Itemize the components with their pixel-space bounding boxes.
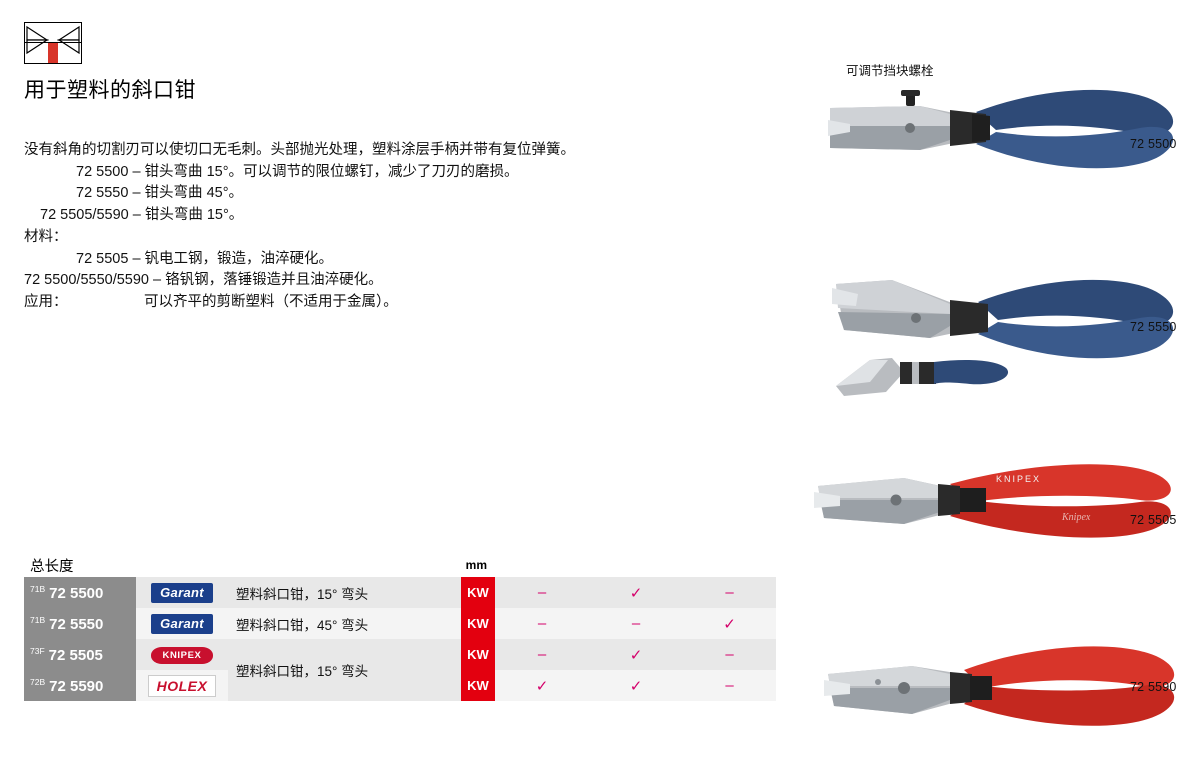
- row-value-3-1: ✓: [589, 670, 683, 701]
- description-line-3: 72 5550 – 钳头弯曲 45°。: [76, 183, 243, 204]
- table-header-title: 总长度: [24, 553, 461, 577]
- row-value-0-0: –: [495, 577, 589, 608]
- page-title: 用于塑料的斜口钳: [24, 74, 196, 104]
- row-code-3: 72B72 5590: [24, 670, 136, 701]
- row-brand-0: Garant: [136, 577, 228, 608]
- row-value-2-2: –: [683, 639, 776, 670]
- row-desc-0: 塑料斜口钳，15° 弯头: [228, 577, 461, 608]
- row-sup-3: 72B: [30, 677, 45, 687]
- row-article-1: 72 5550: [49, 616, 103, 633]
- product-photo-725500: [800, 78, 1199, 193]
- product-code-725590: 72 5590: [1130, 680, 1177, 694]
- description-line-1: 没有斜角的切割刃可以使切口无毛刺。头部抛光处理，塑料涂层手柄并带有复位弹簧。: [24, 140, 575, 161]
- application-text: 可以齐平的剪断塑料（不适用于金属）。: [144, 292, 398, 313]
- table-header-row: 总长度 mm 130 160 150: [24, 553, 776, 577]
- material-line-2: 72 5500/5550/5590 – 铬钒钢，落锤锻造并且油淬硬化。: [24, 270, 383, 291]
- product-code-725550: 72 5550: [1130, 320, 1177, 334]
- left-content-column: 用于塑料的斜口钳 没有斜角的切割刃可以使切口无毛刺。头部抛光处理，塑料涂层手柄并…: [0, 0, 800, 783]
- table-header-size-2: 150: [683, 553, 776, 577]
- row-kw-1: KW: [461, 608, 495, 639]
- product-photo-725550: [800, 262, 1199, 417]
- svg-text:KNIPEX: KNIPEX: [996, 474, 1041, 484]
- description-line-4: 72 5505/5590 – 钳头弯曲 15°。: [40, 205, 243, 226]
- adjustable-stop-screw-callout: 可调节挡块螺栓: [846, 60, 934, 79]
- table-header-size-1: 160: [589, 553, 683, 577]
- row-value-1-2: ✓: [683, 608, 776, 639]
- material-line-1: 72 5505 – 钒电工钢，锻造，油淬硬化。: [76, 249, 333, 270]
- product-images-column: 可调节挡块螺栓 72 5500: [800, 0, 1199, 783]
- table-header-unit: mm: [461, 553, 495, 577]
- garant-logo: Garant: [151, 583, 213, 603]
- application-label: 应用：: [24, 292, 68, 313]
- row-sup-1: 71B: [30, 615, 45, 625]
- row-value-1-0: –: [495, 608, 589, 639]
- knipex-logo: KNIPEX: [151, 647, 214, 664]
- row-kw-3: KW: [461, 670, 495, 701]
- row-article-0: 72 5500: [49, 585, 103, 602]
- table-header-size-0: 130: [495, 553, 589, 577]
- row-value-3-0: ✓: [495, 670, 589, 701]
- row-kw-2: KW: [461, 639, 495, 670]
- row-value-2-0: –: [495, 639, 589, 670]
- row-value-0-2: –: [683, 577, 776, 608]
- row-code-1: 71B72 5550: [24, 608, 136, 639]
- row-code-0: 71B72 5500: [24, 577, 136, 608]
- row-value-0-1: ✓: [589, 577, 683, 608]
- material-label: 材料：: [24, 227, 68, 248]
- row-brand-3: HOLEX: [136, 670, 228, 701]
- specification-table: 总长度 mm 130 160 150 71B72 5500 Garant 塑料斜…: [24, 553, 776, 701]
- row-kw-0: KW: [461, 577, 495, 608]
- row-sup-0: 71B: [30, 584, 45, 594]
- description-line-2: 72 5500 – 钳头弯曲 15°。可以调节的限位螺钉，减少了刀刃的磨损。: [76, 162, 519, 183]
- row-article-2: 72 5505: [49, 647, 103, 664]
- table-row[interactable]: 73F72 5505 KNIPEX 塑料斜口钳，15° 弯头 KW – ✓ –: [24, 639, 776, 670]
- table-row[interactable]: 71B72 5550 Garant 塑料斜口钳，45° 弯头 KW – – ✓: [24, 608, 776, 639]
- row-sup-2: 73F: [30, 646, 45, 656]
- row-article-3: 72 5590: [49, 678, 103, 695]
- row-desc-1: 塑料斜口钳，45° 弯头: [228, 608, 461, 639]
- row-brand-2: KNIPEX: [136, 639, 228, 670]
- cutting-edge-pictogram: [24, 22, 82, 64]
- svg-text:Knipex: Knipex: [1061, 512, 1091, 523]
- row-code-2: 73F72 5505: [24, 639, 136, 670]
- product-photo-725505: KNIPEX Knipex: [800, 448, 1199, 573]
- row-desc-2: 塑料斜口钳，15° 弯头: [228, 639, 461, 701]
- product-photo-725590: [800, 630, 1199, 765]
- product-code-725505: 72 5505: [1130, 513, 1177, 527]
- product-code-725500: 72 5500: [1130, 137, 1177, 151]
- row-value-1-1: –: [589, 608, 683, 639]
- holex-logo: HOLEX: [148, 675, 217, 697]
- row-value-3-2: –: [683, 670, 776, 701]
- garant-logo: Garant: [151, 614, 213, 634]
- row-brand-1: Garant: [136, 608, 228, 639]
- table-row[interactable]: 71B72 5500 Garant 塑料斜口钳，15° 弯头 KW – ✓ –: [24, 577, 776, 608]
- row-value-2-1: ✓: [589, 639, 683, 670]
